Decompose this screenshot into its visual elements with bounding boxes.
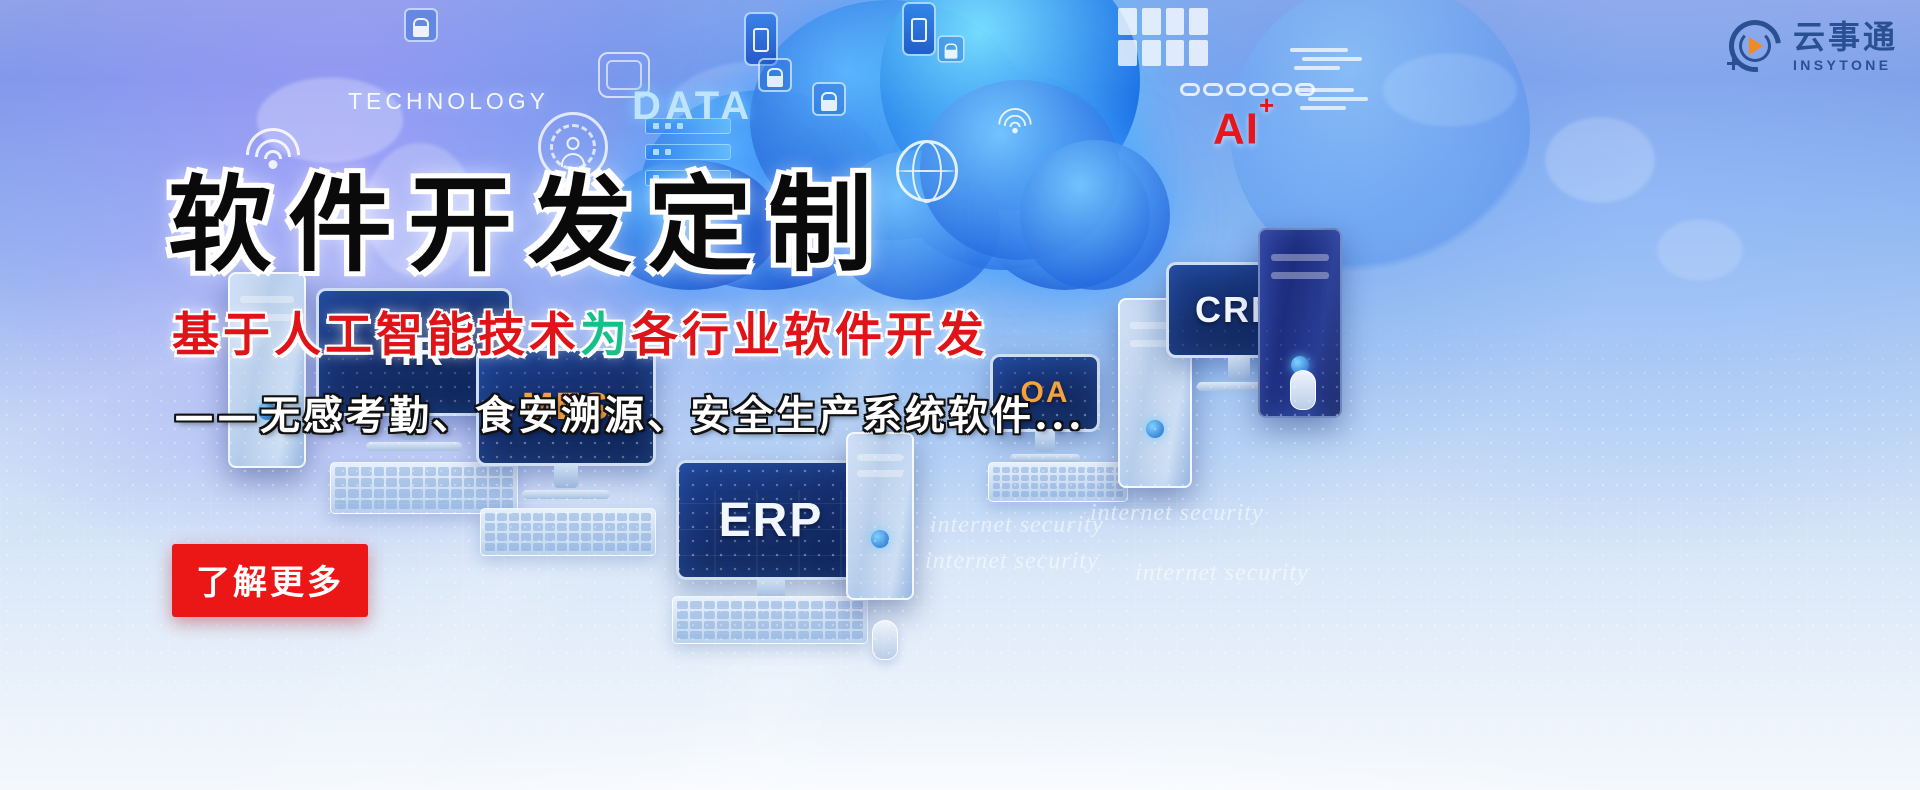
circuit-lines-icon (1290, 44, 1362, 74)
wifi-icon (243, 128, 303, 170)
globe-glow-decoration (1230, 0, 1530, 280)
mobile-device-icon (744, 12, 778, 66)
mes-monitor: MES (476, 348, 656, 499)
blocks-grid-icon (1118, 8, 1208, 66)
blockchain-links-icon (1180, 83, 1315, 96)
server-stack-icon (645, 118, 735, 214)
erp-monitor: ERP (676, 460, 866, 621)
square-frame-icon (598, 52, 650, 98)
bg-text-2: internet security (1090, 500, 1264, 527)
cloud-shape-main (600, 0, 1120, 300)
hero-subtitle-part2: 各行业软件开发 (631, 308, 988, 363)
perspective-floor-decoration (0, 490, 1920, 790)
hero-subtitle-part1: 基于人工智能技术 (172, 308, 580, 363)
hero-subtitle-highlight: 为 (580, 308, 631, 363)
technology-label: TECHNOLOGY (348, 88, 549, 115)
crm-monitor-label: CRM (1195, 289, 1283, 331)
bg-text-4: internet security (1135, 560, 1309, 587)
circuit-lines-icon-2 (1296, 84, 1368, 114)
ai-superscript: + (1259, 90, 1275, 120)
pc-tower-right (1118, 298, 1192, 488)
crm-monitor: CRM (1166, 262, 1312, 391)
keyboard-hr (330, 462, 518, 514)
light-rays-decoration (0, 0, 1920, 790)
bg-text-3: internet security (925, 548, 1099, 575)
brand-name-cn: 云事通 (1793, 21, 1898, 53)
keyboard-mes (480, 508, 656, 556)
wifi-icon-small (996, 108, 1033, 134)
mes-monitor-label: MES (522, 386, 610, 429)
data-label: DATA (632, 84, 753, 129)
play-circle-icon (1729, 20, 1781, 72)
keyboard-oa (988, 462, 1128, 502)
world-map-decoration (0, 0, 1920, 430)
brand-name-en: INSYTONE (1793, 58, 1898, 72)
pc-tower-dark (1258, 228, 1342, 418)
brand-wordmark: 云事通 INSYTONE (1793, 21, 1898, 72)
lock-icon-4 (937, 35, 964, 62)
ai-text: AI (1213, 105, 1259, 154)
mouse-center (872, 620, 898, 660)
hr-monitor-label: HR (383, 330, 445, 375)
hero-banner: TECHNOLOGY DATA AI+ HR MES ERP (0, 0, 1920, 790)
bg-text-1: internet security (930, 512, 1104, 539)
mobile-device-icon-2 (902, 2, 936, 56)
cloud-bubble-decoration (880, 0, 1140, 210)
erp-monitor-label: ERP (719, 493, 824, 548)
page-title: 软件开发定制 (168, 172, 1168, 278)
oa-monitor: OA (990, 354, 1100, 462)
ai-plus-label: AI+ (1213, 104, 1275, 155)
lock-icon (404, 8, 438, 42)
oa-monitor-label: OA (1021, 376, 1070, 410)
hr-monitor: HR (316, 288, 512, 451)
mouse-right (1290, 370, 1316, 410)
hero-subtitle: 基于人工智能技术为各行业软件开发 (172, 296, 1168, 365)
pc-tower-left (228, 272, 306, 468)
globe-icon (896, 140, 958, 202)
pc-tower-center (846, 432, 914, 600)
hero-copy: 软件开发定制 基于人工智能技术为各行业软件开发 ——无感考勤、食安溯源、安全生产… (168, 172, 1168, 441)
lock-icon-2 (758, 58, 792, 92)
keyboard-erp (672, 596, 868, 644)
brand-logo[interactable]: 云事通 INSYTONE (1729, 20, 1898, 72)
gear-user-icon (538, 112, 608, 182)
lock-icon-3 (812, 82, 846, 116)
learn-more-button[interactable]: 了解更多 (172, 544, 368, 617)
cloud-shape-secondary (830, 60, 1160, 320)
hero-tagline: ——无感考勤、食安溯源、安全生产系统软件... (174, 383, 1168, 441)
